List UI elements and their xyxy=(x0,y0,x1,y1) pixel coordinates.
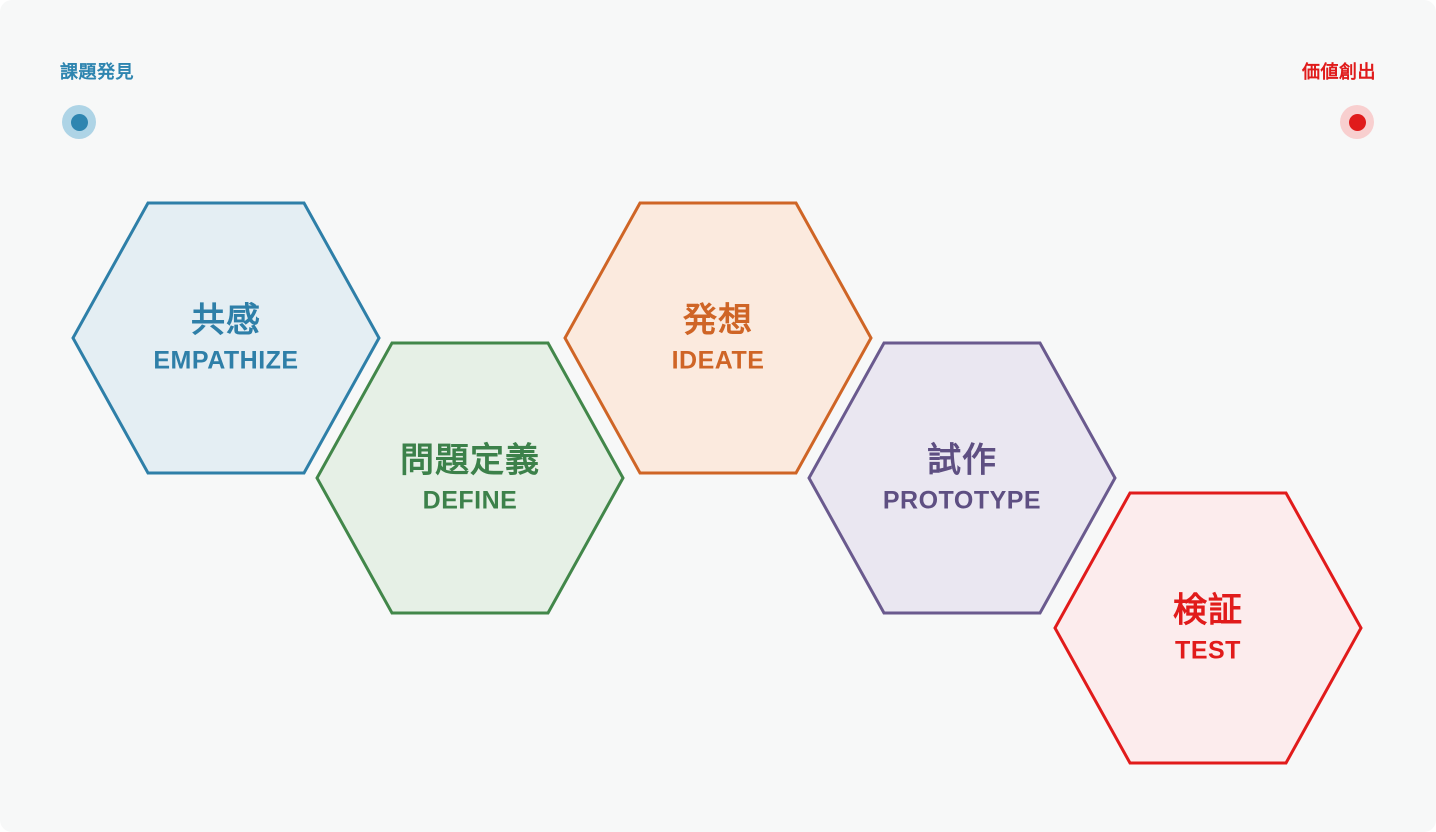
timeline-start-label: 課題発見 xyxy=(60,58,134,84)
timeline-start-marker-core xyxy=(71,114,88,131)
stage-hexagon-empathize[interactable]: 共感 EMPATHIZE xyxy=(70,200,382,476)
timeline-end-marker-core xyxy=(1349,114,1366,131)
timeline-start-marker xyxy=(62,105,96,139)
timeline-dotted-line xyxy=(104,120,1336,124)
timeline-end-marker xyxy=(1340,105,1374,139)
hexagon-shape xyxy=(70,200,382,476)
diagram-canvas: 課題発見 価値創出 共感 EMPATHIZE xyxy=(0,0,1436,832)
timeline-end-label: 価値創出 xyxy=(1302,58,1376,84)
progress-timeline: 課題発見 価値創出 xyxy=(0,0,1436,160)
